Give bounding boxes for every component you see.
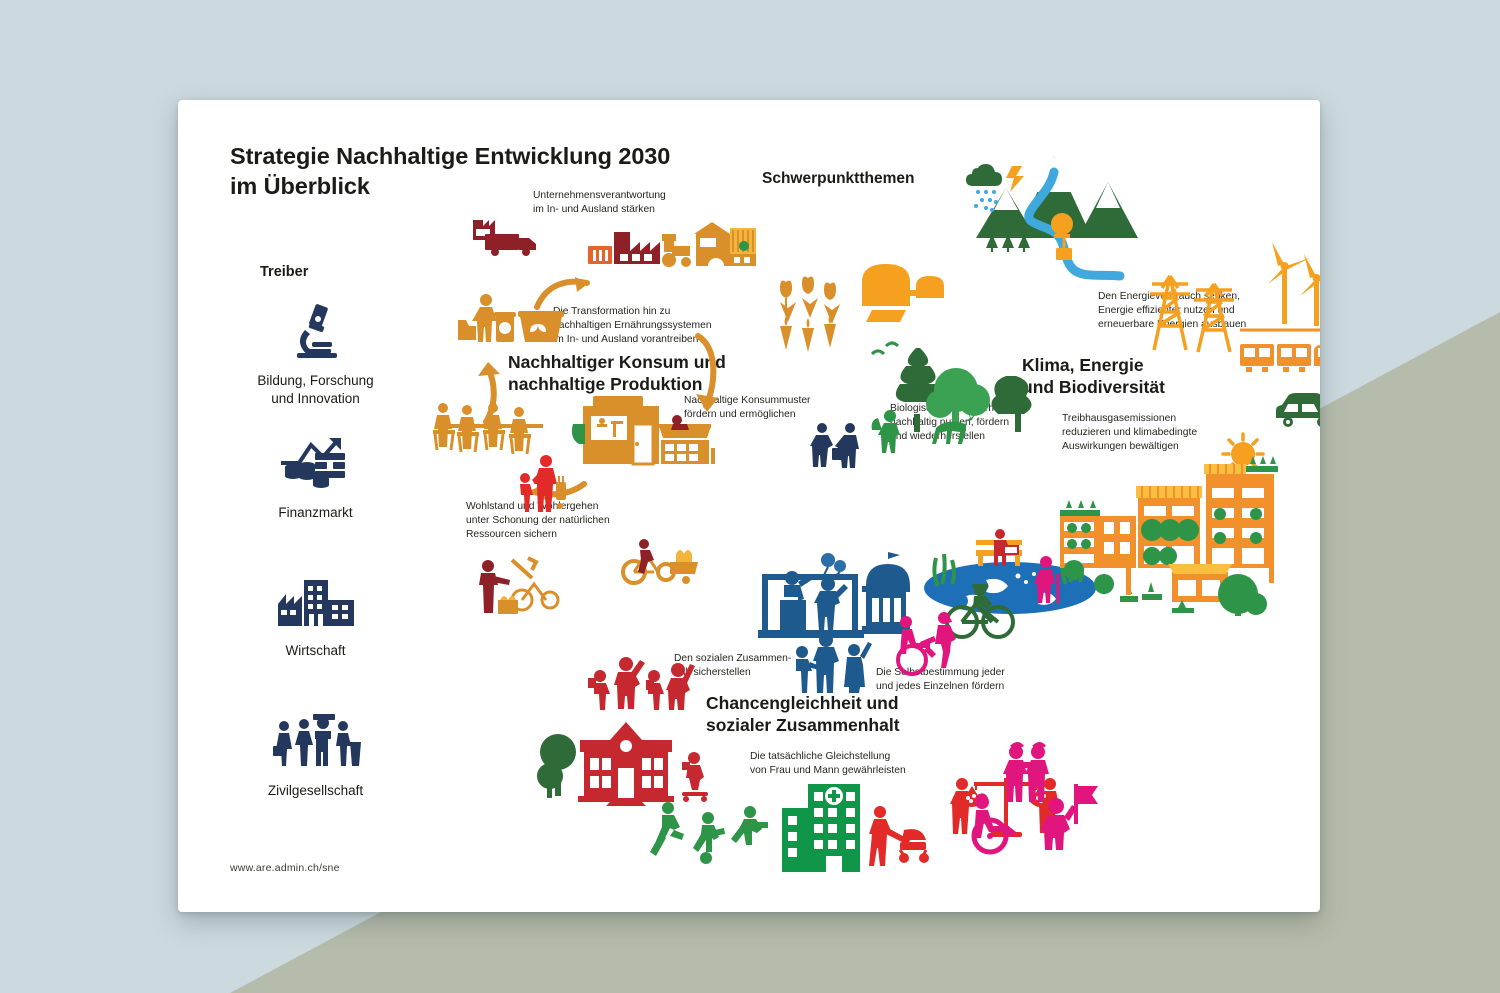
- farm-tractor-icon: [656, 218, 760, 276]
- caption-gleichstellung: Die tatsächliche Gleichstellung von Frau…: [750, 750, 960, 778]
- flag-person-icon: [1034, 784, 1098, 850]
- sidebar-item-label: Finanzmarkt: [208, 504, 423, 522]
- industry-buildings-icon: [208, 568, 423, 634]
- mountains-river-icon: [958, 148, 1158, 298]
- sidebar-item-finanzmarkt[interactable]: Finanzmarkt: [208, 430, 423, 522]
- handshake-people-icon: [810, 420, 864, 468]
- green-city-buildings-icon: [1060, 468, 1282, 616]
- electric-car-charger-icon: [1274, 390, 1320, 430]
- sidebar-item-label: Zivilgesellschaft: [208, 782, 423, 800]
- caption-transformation: Die Transformation hin zu nachhaltigen E…: [553, 305, 783, 346]
- factory-truck-icon: [471, 206, 543, 258]
- wheelchair-person-icon: [966, 794, 1022, 844]
- shop-market-stall-icon: [573, 394, 715, 476]
- biogas-plant-icon: [862, 252, 958, 324]
- poster-card: Strategie Nachhaltige Entwicklung 2030 i…: [178, 100, 1320, 912]
- scene: Strategie Nachhaltige Entwicklung 2030 i…: [0, 0, 1500, 993]
- soccer-players-icon: [646, 800, 774, 864]
- parent-child-shopping-icon: [518, 452, 568, 514]
- sidebar-item-zivilgesellschaft[interactable]: Zivilgesellschaft: [208, 708, 423, 800]
- sidebar-item-bildung[interactable]: Bildung, Forschung und Innovation: [208, 298, 423, 407]
- footer-url: www.are.admin.ch/sne: [230, 862, 340, 874]
- sidebar-item-wirtschaft[interactable]: Wirtschaft: [208, 568, 423, 660]
- sidebar-item-label: Bildung, Forschung und Innovation: [208, 372, 423, 407]
- wheelchair-assist-icon: [894, 612, 966, 662]
- stroller-parent-icon: [868, 804, 936, 866]
- wheat-carrot-crops-icon: [778, 276, 854, 354]
- focus-topics-heading: Schwerpunktthemen: [762, 170, 914, 188]
- family-group-icon: [586, 656, 694, 710]
- podium-parliament-icon: [758, 552, 910, 664]
- wind-turbines-icon: [1266, 240, 1320, 326]
- caption-unternehmensverantwortung: Unternehmensverantwortung im In- und Aus…: [533, 189, 743, 217]
- forest-deer-hiker-icon: [868, 336, 1052, 454]
- cargo-bike-icon: [618, 536, 700, 584]
- arrow-curved-right-icon: [533, 275, 595, 311]
- tram-train-icon: [1240, 330, 1320, 376]
- finance-chart-coins-icon: [208, 430, 423, 496]
- microscope-icon: [208, 298, 423, 364]
- sidebar-item-label: Wirtschaft: [208, 642, 423, 660]
- civil-society-people-icon: [208, 708, 423, 774]
- hospital-icon: [782, 784, 860, 874]
- sidebar-title: Treiber: [260, 264, 308, 280]
- cafe-people-icon: [433, 400, 547, 454]
- theme-heading-chancen: Chancengleichheit und sozialer Zusammenh…: [706, 693, 900, 737]
- power-pylons-icon: [1148, 254, 1240, 356]
- repair-workshop-icon: [476, 556, 560, 614]
